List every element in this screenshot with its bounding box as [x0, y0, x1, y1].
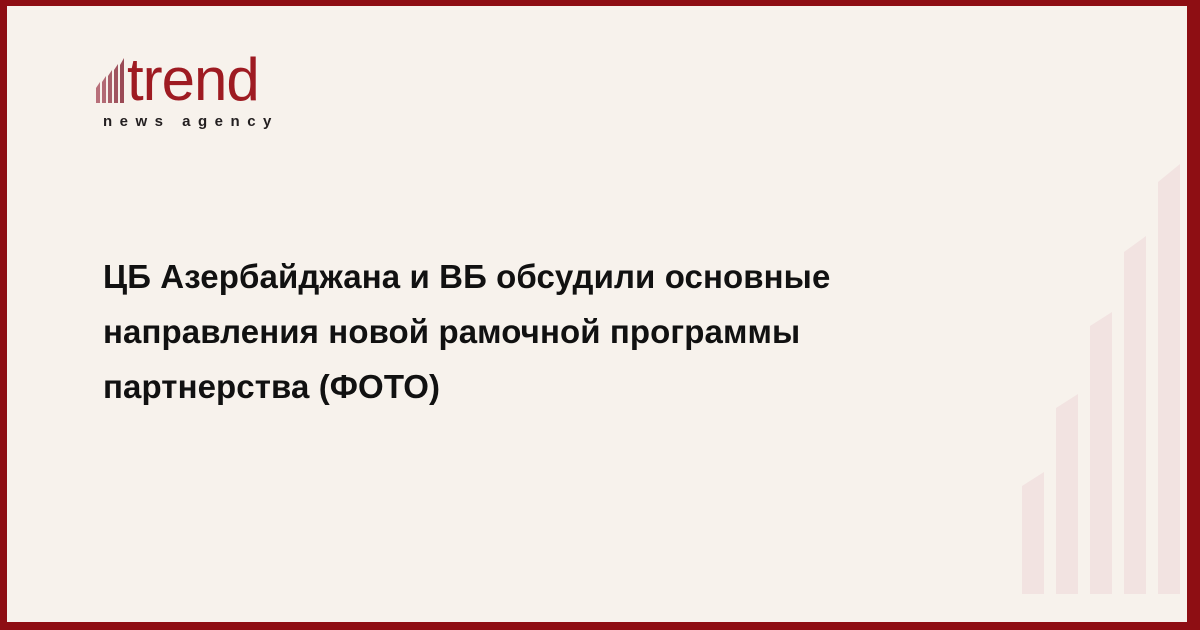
- logo-wordmark: trend: [127, 55, 259, 104]
- ascending-bars-mark-icon: [96, 57, 126, 103]
- logo-bar: [114, 64, 118, 103]
- logo-tagline: news agency: [103, 113, 396, 130]
- trend-logo[interactable]: trend news agency: [96, 46, 396, 130]
- logo-bar: [108, 70, 112, 103]
- logo-bar: [102, 76, 106, 103]
- decor-bar: [1124, 236, 1146, 594]
- logo-bar: [120, 58, 124, 103]
- decor-bar: [1090, 312, 1112, 594]
- decor-bar: [1022, 472, 1044, 594]
- news-share-card: trend news agency ЦБ Азербайджана и ВБ о…: [0, 0, 1200, 630]
- decor-bar: [1056, 394, 1078, 594]
- logo-bar: [96, 82, 100, 103]
- logo-mark-row: trend: [96, 46, 396, 104]
- decor-bar: [1158, 164, 1180, 594]
- ascending-bars-graphic: [1022, 164, 1180, 594]
- article-headline: ЦБ Азербайджана и ВБ обсудили основные н…: [103, 249, 963, 414]
